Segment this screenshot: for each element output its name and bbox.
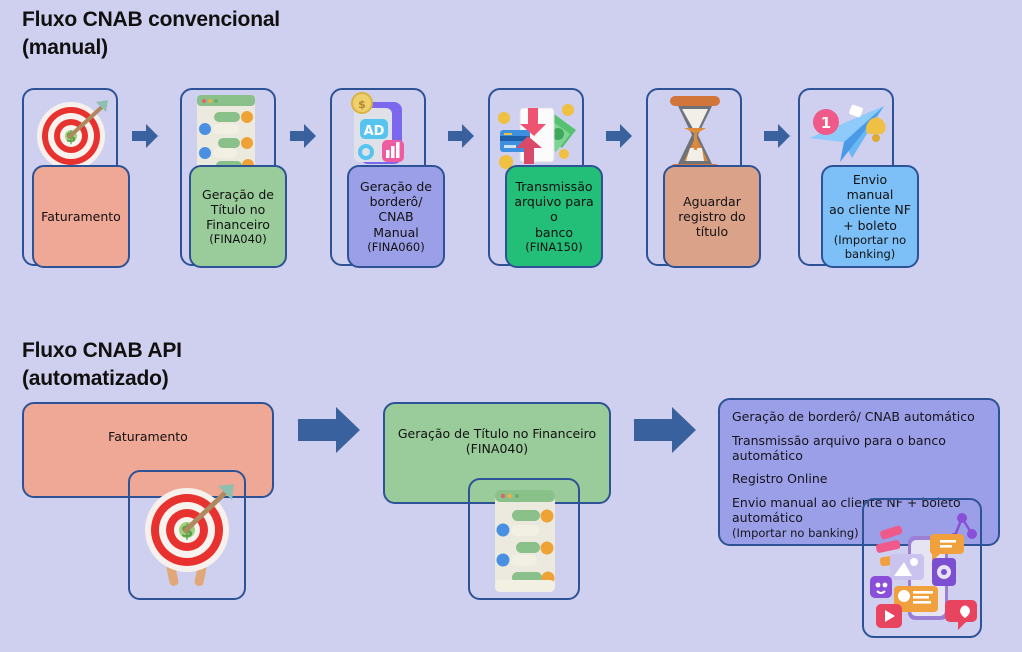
step-label-envio-manual[interactable]: Envio manual ao cliente NF + boleto (Imp… — [821, 165, 919, 268]
flow-arrow-5 — [762, 121, 792, 155]
api-flow-arrow-1 — [296, 405, 362, 459]
api-step-card-faturamento — [128, 470, 246, 600]
flow-arrow-2 — [288, 121, 318, 155]
api-result-line-2: Transmissão arquivo para o banco automát… — [732, 434, 986, 464]
section-title-api-flow: Fluxo CNAB API (automatizado) — [22, 337, 182, 393]
api-flow-arrow-2 — [632, 405, 698, 459]
api-result-line-1: Geração de borderô/ CNAB automático — [732, 410, 986, 425]
step-label-transmissao[interactable]: Transmissão arquivo para o banco (FINA15… — [505, 165, 603, 268]
step-label-aguardar-registro[interactable]: Aguardar registro do título — [663, 165, 761, 268]
section-title-manual-flow: Fluxo CNAB convencional (manual) — [22, 6, 280, 62]
flow-arrow-4 — [604, 121, 634, 155]
api-result-card — [862, 498, 982, 638]
step-label-geracao-bordero[interactable]: Geração de borderô/ CNAB Manual (FINA060… — [347, 165, 445, 268]
flow-arrow-3 — [446, 121, 476, 155]
api-result-line-3: Registro Online — [732, 472, 986, 487]
step-label-geracao-titulo[interactable]: Geração de Título no Financeiro (FINA040… — [189, 165, 287, 268]
step-label-faturamento[interactable]: Faturamento — [32, 165, 130, 268]
flow-arrow-1 — [130, 121, 160, 155]
api-step-card-geracao-titulo — [468, 478, 580, 600]
